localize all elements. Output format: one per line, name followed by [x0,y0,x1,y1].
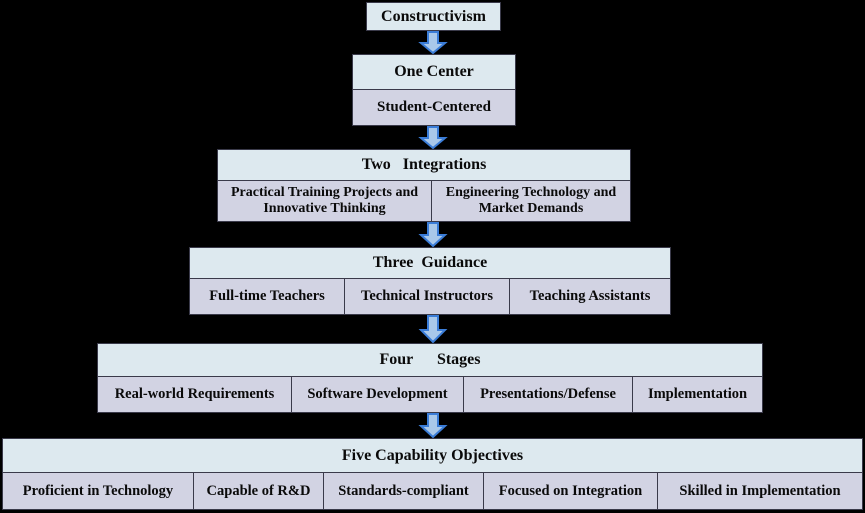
tier-four-stages-title: Four Stages [98,344,762,377]
arrow-down-icon-5 [417,413,449,438]
tier-two-integrations-cells: Practical Training Projects and Innovati… [218,181,630,221]
tier-four-stages: Four Stages Real-world Requirements Soft… [97,343,763,413]
arrow-down-icon-4 [417,315,449,343]
tier-two-integrations-title: Two Integrations [218,150,630,181]
cell-student-centered: Student-Centered [353,90,515,125]
cell-focused-on-integration: Focused on Integration [484,473,658,509]
tier-five-capability-objectives-title: Five Capability Objectives [3,439,862,473]
tier-three-guidance-title: Three Guidance [190,248,670,279]
cell-engineering-technology: Engineering Technology and Market Demand… [432,181,630,221]
cell-real-world-requirements: Real-world Requirements [98,377,292,412]
tier-four-stages-cells: Real-world Requirements Software Develop… [98,377,762,412]
cell-skilled-in-implementation: Skilled in Implementation [658,473,862,509]
tier-three-guidance: Three Guidance Full-time Teachers Techni… [189,247,671,315]
tier-three-guidance-cells: Full-time Teachers Technical Instructors… [190,279,670,314]
cell-full-time-teachers: Full-time Teachers [190,279,345,314]
cell-practical-training-projects: Practical Training Projects and Innovati… [218,181,432,221]
tier-one-center-cells: Student-Centered [353,90,515,125]
arrow-down-icon-1 [417,31,449,54]
cell-standards-compliant: Standards-compliant [324,473,484,509]
arrow-down-icon-2 [417,126,449,149]
diagram-canvas: Constructivism One Center Student-Center… [0,0,865,513]
node-constructivism: Constructivism [366,2,501,31]
tier-one-center: One Center Student-Centered [352,54,516,126]
tier-two-integrations: Two Integrations Practical Training Proj… [217,149,631,222]
cell-teaching-assistants: Teaching Assistants [510,279,670,314]
cell-presentations-defense: Presentations/Defense [464,377,633,412]
tier-five-capability-objectives: Five Capability Objectives Proficient in… [2,438,863,510]
cell-technical-instructors: Technical Instructors [345,279,510,314]
cell-implementation: Implementation [633,377,762,412]
cell-capable-of-rd: Capable of R&D [194,473,324,509]
tier-five-capability-objectives-cells: Proficient in Technology Capable of R&D … [3,473,862,509]
cell-proficient-in-technology: Proficient in Technology [3,473,194,509]
tier-one-center-title: One Center [353,55,515,90]
arrow-down-icon-3 [417,222,449,247]
cell-software-development: Software Development [292,377,464,412]
